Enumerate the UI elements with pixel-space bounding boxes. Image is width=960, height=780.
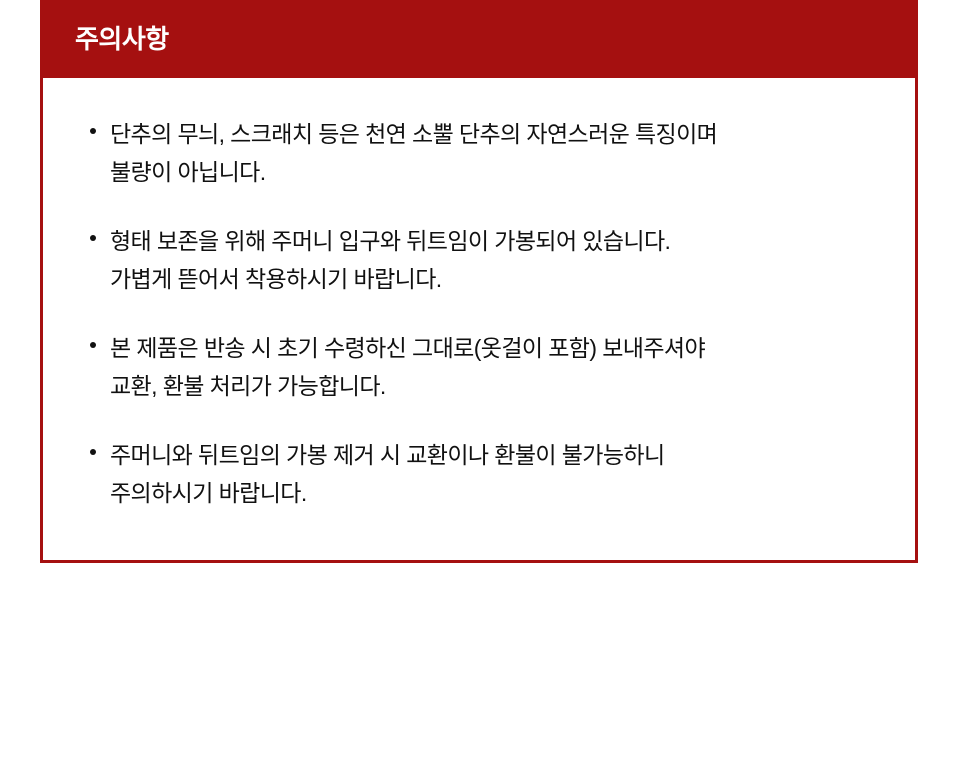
notice-line: 불량이 아닙니다. xyxy=(110,153,893,191)
notice-line: 본 제품은 반송 시 초기 수령하신 그대로(옷걸이 포함) 보내주셔야 xyxy=(110,329,893,367)
notice-line: 가볍게 뜯어서 착용하시기 바랍니다. xyxy=(110,260,893,298)
list-item: 본 제품은 반송 시 초기 수령하신 그대로(옷걸이 포함) 보내주셔야 교환,… xyxy=(89,329,893,405)
notice-line: 주의하시기 바랍니다. xyxy=(110,474,893,512)
notice-line: 형태 보존을 위해 주머니 입구와 뒤트임이 가봉되어 있습니다. xyxy=(110,222,893,260)
notice-header-bar: 주의사항 xyxy=(40,0,918,78)
list-item: 주머니와 뒤트임의 가봉 제거 시 교환이나 환불이 불가능하니 주의하시기 바… xyxy=(89,436,893,512)
bullet-icon xyxy=(90,449,96,455)
list-item: 단추의 무늬, 스크래치 등은 천연 소뿔 단추의 자연스러운 특징이며 불량이… xyxy=(89,115,893,191)
bullet-icon xyxy=(90,342,96,348)
notice-body: 단추의 무늬, 스크래치 등은 천연 소뿔 단추의 자연스러운 특징이며 불량이… xyxy=(40,78,918,563)
bullet-icon xyxy=(90,128,96,134)
list-item: 형태 보존을 위해 주머니 입구와 뒤트임이 가봉되어 있습니다. 가볍게 뜯어… xyxy=(89,222,893,298)
notice-line: 주머니와 뒤트임의 가봉 제거 시 교환이나 환불이 불가능하니 xyxy=(110,436,893,474)
notice-panel: 주의사항 단추의 무늬, 스크래치 등은 천연 소뿔 단추의 자연스러운 특징이… xyxy=(40,0,918,563)
bullet-icon xyxy=(90,235,96,241)
page-title: 주의사항 xyxy=(75,26,169,52)
notice-list: 단추의 무늬, 스크래치 등은 천연 소뿔 단추의 자연스러운 특징이며 불량이… xyxy=(89,115,893,512)
notice-line: 단추의 무늬, 스크래치 등은 천연 소뿔 단추의 자연스러운 특징이며 xyxy=(110,115,893,153)
notice-line: 교환, 환불 처리가 가능합니다. xyxy=(110,367,893,405)
